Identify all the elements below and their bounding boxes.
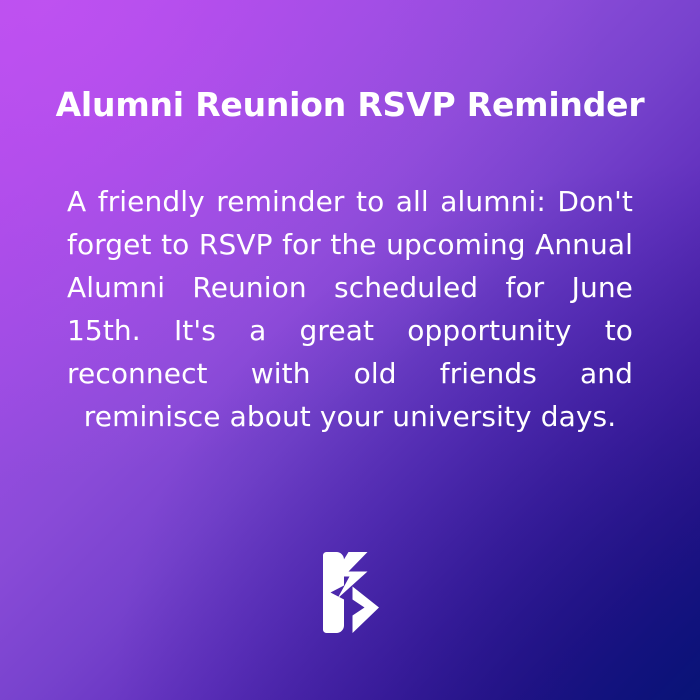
page-title: Alumni Reunion RSVP Reminder bbox=[0, 84, 700, 126]
poster-content: Alumni Reunion RSVP Reminder A friendly … bbox=[0, 0, 700, 700]
social-post-card: Alumni Reunion RSVP Reminder A friendly … bbox=[0, 0, 700, 700]
body-paragraph: A friendly reminder to all alumni: Don't… bbox=[67, 180, 633, 438]
brand-monogram-logo bbox=[323, 552, 379, 633]
